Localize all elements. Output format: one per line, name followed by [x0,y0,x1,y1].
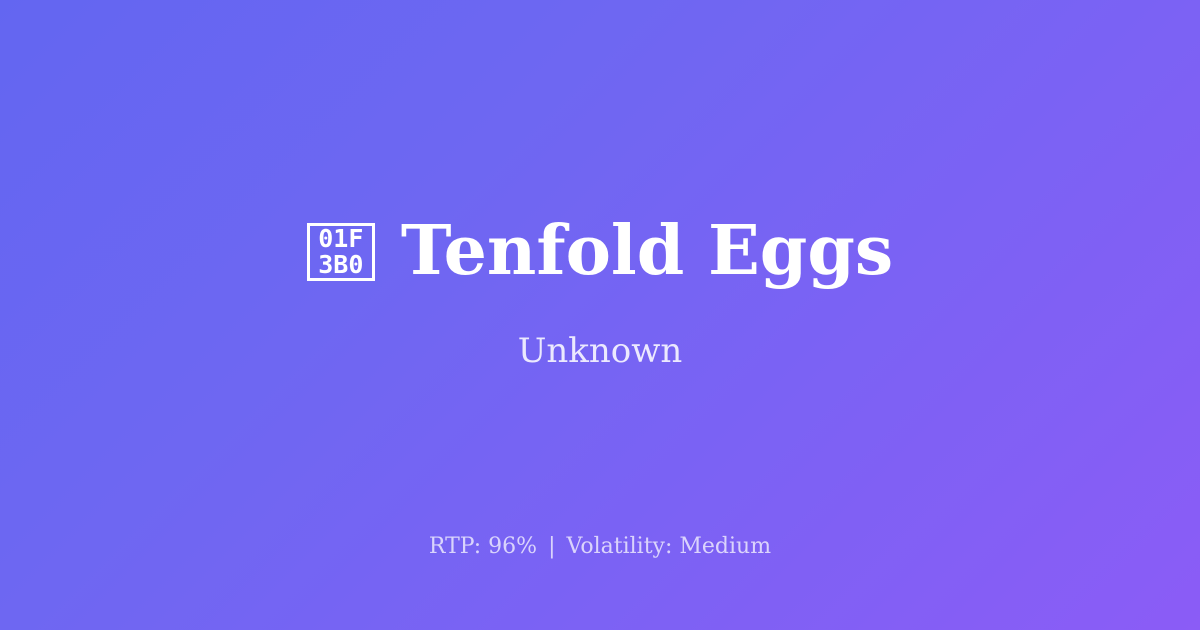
card-content-stack: 01F 3B0 Tenfold Eggs Unknown [0,216,1200,372]
stats-separator: | [544,534,559,559]
volatility-value: Volatility: Medium [567,534,772,559]
glyph-codepoint-top: 01F [318,226,363,252]
rtp-value: RTP: 96% [429,534,537,559]
glyph-codepoint-bottom: 3B0 [318,252,363,278]
provider-label: Unknown [518,331,683,372]
page-title: Tenfold Eggs [401,216,893,287]
game-preview-card: 01F 3B0 Tenfold Eggs Unknown RTP: 96% | … [0,0,1200,630]
title-row: 01F 3B0 Tenfold Eggs [60,216,1140,287]
slot-machine-icon: 01F 3B0 [307,223,375,281]
game-stats-line: RTP: 96% | Volatility: Medium [0,533,1200,562]
